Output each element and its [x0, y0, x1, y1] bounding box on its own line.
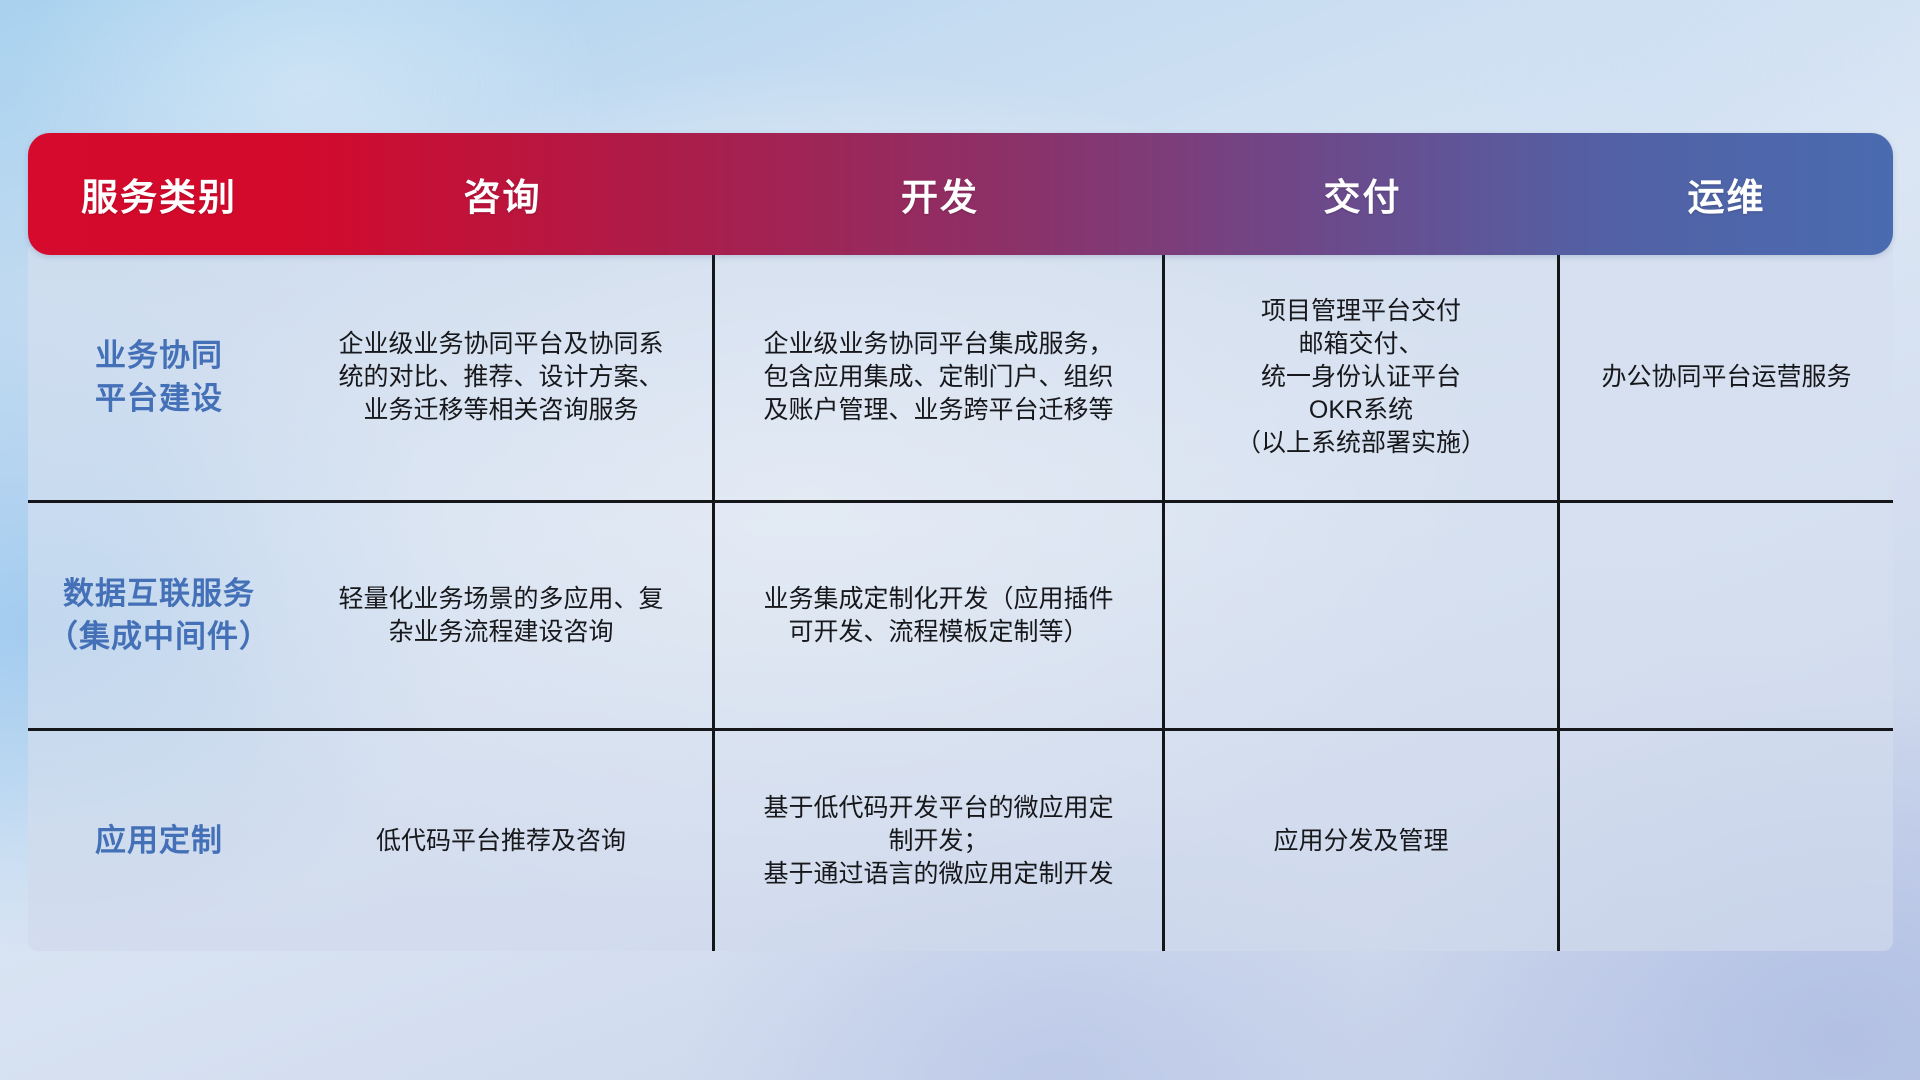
column-header-consulting: 咨询: [290, 167, 715, 221]
table-body: 业务协同 平台建设 企业级业务协同平台及协同系 统的对比、推荐、设计方案、 业务…: [28, 247, 1893, 951]
cell-operations: 办公协同平台运营服务: [1560, 255, 1893, 500]
table-row: 应用定制 低代码平台推荐及咨询 基于低代码开发平台的微应用定 制开发； 基于通过…: [28, 731, 1893, 951]
column-header-operations: 运维: [1560, 167, 1893, 221]
cell-consulting: 轻量化业务场景的多应用、复 杂业务流程建设咨询: [290, 503, 715, 728]
service-matrix-table: 服务类别 咨询 开发 交付 运维 业务协同 平台建设 企业级业务协同平台及协同系…: [28, 133, 1893, 951]
column-header-category: 服务类别: [28, 167, 290, 221]
row-category-label: 应用定制: [28, 731, 290, 951]
column-header-development: 开发: [715, 167, 1165, 221]
cell-operations: [1560, 503, 1893, 728]
cell-development: 企业级业务协同平台集成服务， 包含应用集成、定制门户、组织 及账户管理、业务跨平…: [715, 255, 1165, 500]
cell-development: 基于低代码开发平台的微应用定 制开发； 基于通过语言的微应用定制开发: [715, 731, 1165, 951]
cell-delivery: 应用分发及管理: [1165, 731, 1560, 951]
table-row: 业务协同 平台建设 企业级业务协同平台及协同系 统的对比、推荐、设计方案、 业务…: [28, 255, 1893, 503]
row-category-label: 业务协同 平台建设: [28, 255, 290, 500]
row-category-label: 数据互联服务 （集成中间件）: [28, 503, 290, 728]
cell-delivery: [1165, 503, 1560, 728]
cell-operations: [1560, 731, 1893, 951]
column-header-delivery: 交付: [1165, 167, 1560, 221]
cell-consulting: 企业级业务协同平台及协同系 统的对比、推荐、设计方案、 业务迁移等相关咨询服务: [290, 255, 715, 500]
table-row: 数据互联服务 （集成中间件） 轻量化业务场景的多应用、复 杂业务流程建设咨询 业…: [28, 503, 1893, 731]
table-header-row: 服务类别 咨询 开发 交付 运维: [28, 133, 1893, 255]
cell-delivery: 项目管理平台交付 邮箱交付、 统一身份认证平台 OKR系统 （以上系统部署实施）: [1165, 255, 1560, 500]
cell-consulting: 低代码平台推荐及咨询: [290, 731, 715, 951]
cell-development: 业务集成定制化开发（应用插件 可开发、流程模板定制等）: [715, 503, 1165, 728]
